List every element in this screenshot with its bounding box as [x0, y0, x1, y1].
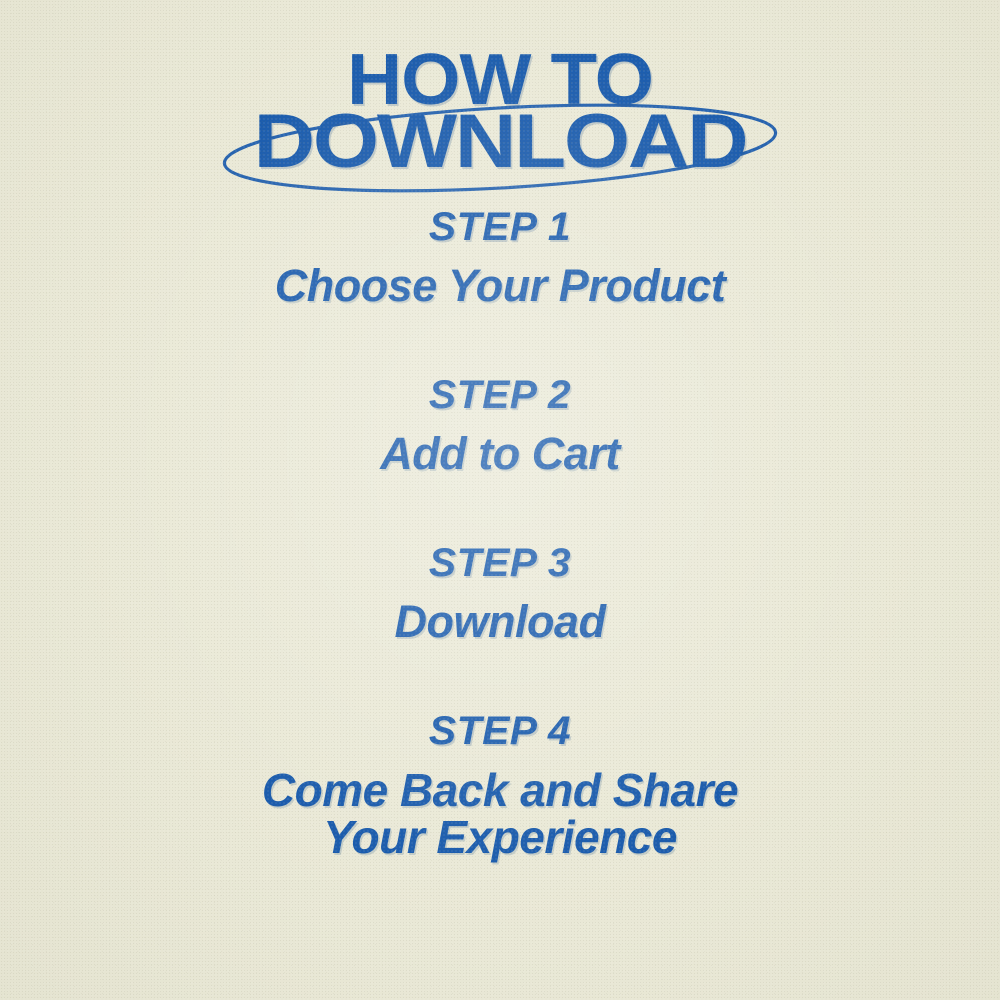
step-text-4-line-2: Your Experience: [0, 814, 1000, 861]
step-label-2: STEP 2: [0, 374, 1000, 417]
step-text-4: Come Back and Share Your Experience: [0, 767, 1000, 861]
step-label-3: STEP 3: [0, 542, 1000, 585]
how-to-download-poster: HOW TO DOWNLOAD STEP 1 Choose Your Produ…: [0, 0, 1000, 1000]
poster-title: HOW TO DOWNLOAD: [0, 30, 1000, 195]
step-text-2: Add to Cart: [0, 430, 1000, 478]
step-label-1: STEP 1: [0, 206, 1000, 249]
step-item-1: STEP 1 Choose Your Product: [0, 206, 1000, 310]
step-label-4: STEP 4: [0, 710, 1000, 753]
step-item-4: STEP 4 Come Back and Share Your Experien…: [0, 710, 1000, 861]
step-item-2: STEP 2 Add to Cart: [0, 374, 1000, 478]
title-line-download: DOWNLOAD: [0, 104, 1000, 180]
step-text-1: Choose Your Product: [0, 262, 1000, 310]
step-text-3: Download: [0, 598, 1000, 646]
steps-list: STEP 1 Choose Your Product STEP 2 Add to…: [0, 206, 1000, 861]
step-text-4-line-1: Come Back and Share: [0, 767, 1000, 814]
step-item-3: STEP 3 Download: [0, 542, 1000, 646]
